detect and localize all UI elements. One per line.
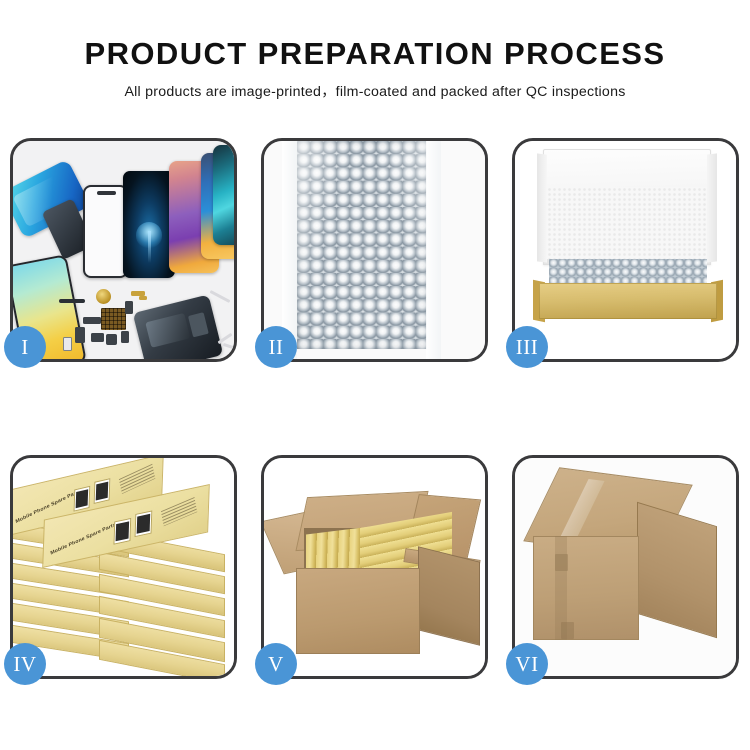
page-title: PRODUCT PREPARATION PROCESS [0, 36, 750, 72]
process-card-open-carton-with-boxes[interactable]: V [261, 455, 488, 679]
photo-bubble-wrap [264, 141, 485, 359]
jellyfish-wallpaper-phone [123, 171, 175, 278]
flex-cable-part [125, 301, 133, 314]
bubble-wrap-left-edge [282, 141, 297, 359]
step-badge: VI [506, 643, 548, 685]
process-card-bubble-wrap[interactable]: II [261, 138, 488, 362]
step-badge: IV [4, 643, 46, 685]
tweezers-part [210, 290, 231, 303]
speaker-part [106, 334, 117, 345]
box-brand-label: Mobile Phone Spare Parts [50, 522, 116, 557]
photo-sealed-carton [515, 458, 736, 676]
foam-liner [547, 187, 707, 259]
process-steps-grid: I II III [10, 138, 740, 679]
carton-side-panel [418, 546, 480, 645]
gold-connector-part [139, 296, 147, 300]
photo-stacked-retail-boxes: Mobile Phone Spare Parts Mobile Phone Sp… [13, 458, 234, 676]
carton-tab [555, 554, 568, 571]
header: PRODUCT PREPARATION PROCESS All products… [0, 0, 750, 101]
bubble-wrap-right-edge [426, 141, 441, 359]
step-badge: III [506, 326, 548, 368]
teal-swirl-phone [213, 145, 234, 245]
photo-kraft-tray-with-bubble-wrap [515, 141, 736, 359]
kraft-tray-front-panel [539, 283, 717, 319]
flex-cable-part [83, 317, 101, 324]
carton-side-panel [637, 502, 717, 638]
carton-front-panel [533, 536, 639, 640]
photo-phone-screens-and-parts [13, 141, 234, 359]
battery-connector-part [63, 337, 72, 351]
process-card-sealed-carton[interactable]: VI [512, 455, 739, 679]
opened-phone-chassis [133, 294, 224, 359]
vibration-motor-part [96, 289, 111, 304]
process-card-kraft-tray-with-bubble-wrap[interactable]: III [512, 138, 739, 362]
page-subtitle: All products are image-printed，film-coat… [0, 81, 750, 101]
bubble-wrap-sheet [297, 141, 427, 349]
step-badge: II [255, 326, 297, 368]
process-card-stacked-retail-boxes[interactable]: Mobile Phone Spare Parts Mobile Phone Sp… [10, 455, 237, 679]
flex-cable-part [75, 327, 85, 343]
carton-tab [561, 622, 574, 639]
photo-open-carton-with-boxes [264, 458, 485, 676]
sim-tray-part [121, 331, 129, 343]
box-spec-lines [119, 464, 155, 494]
step-badge: I [4, 326, 46, 368]
camera-module-part [91, 333, 104, 342]
screw-part [223, 343, 234, 350]
carton-front-panel [296, 568, 420, 654]
box-spec-lines [161, 497, 197, 526]
earpiece-mesh-part [59, 299, 85, 303]
ic-chip-grid-part [101, 308, 126, 330]
step-badge: V [255, 643, 297, 685]
glass-screen-protector [83, 185, 128, 278]
process-card-phone-screens-and-parts[interactable]: I [10, 138, 237, 362]
